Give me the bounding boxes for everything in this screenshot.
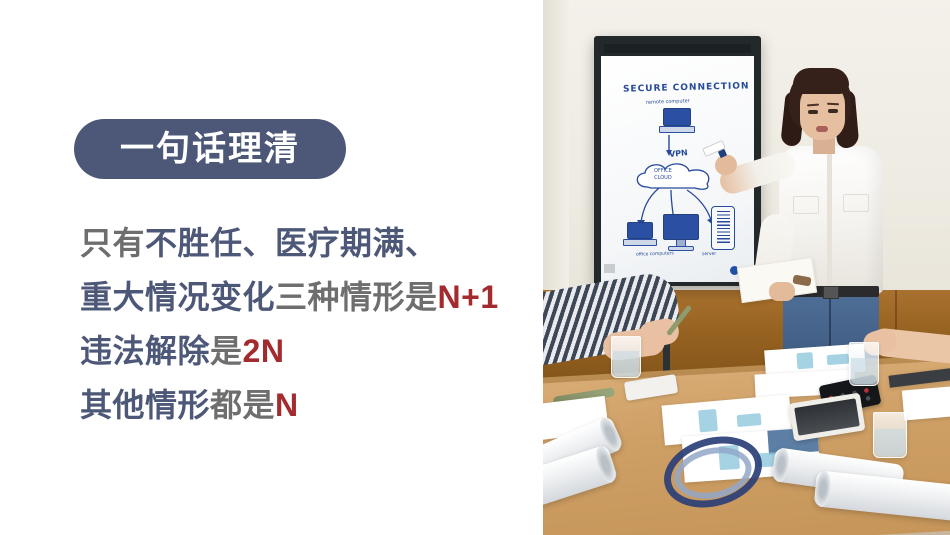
headline-badge: 一句话理清 <box>74 119 346 179</box>
whiteboard-cloud-label: OFFICE CLOUD <box>654 168 672 182</box>
water-glass-left <box>611 336 641 378</box>
table-document-6 <box>902 385 950 420</box>
whiteboard-label-server: server <box>702 252 716 257</box>
body-line-4-segment-3: N <box>275 387 299 423</box>
whiteboard-desktop-monitor-icon <box>663 214 699 251</box>
body-line-2-segment-1: 重大情况变化 <box>80 279 275 315</box>
presenter-lower-hand <box>769 282 795 301</box>
presenter-eye-right <box>828 109 838 113</box>
whiteboard-label-vpn: VPN <box>669 148 689 159</box>
body-line-1: 只有不胜任、医疗期满、 <box>80 216 540 270</box>
body-line-4-segment-2: 都是 <box>210 387 275 423</box>
water-glass-right <box>849 342 879 386</box>
presenter-bangs <box>793 68 849 94</box>
presenter-blouse-pocket-left <box>793 196 819 214</box>
flipchart-clamp <box>604 44 751 53</box>
body-line-3-segment-2: 是 <box>210 333 243 369</box>
body-line-4-segment-1: 其他情形 <box>80 387 210 423</box>
body-text-block: 只有不胜任、医疗期满、 重大情况变化三种情形是N+1 违法解除是2N 其他情形都… <box>80 216 540 432</box>
whiteboard-label-office-computers: office computers <box>636 251 674 257</box>
text-pane: 一句话理清 只有不胜任、医疗期满、 重大情况变化三种情形是N+1 违法解除是2N… <box>0 0 545 535</box>
body-line-3-segment-1: 违法解除 <box>80 333 210 369</box>
whiteboard-title: SECURE CONNECTION <box>623 81 750 94</box>
whiteboard-label-remote-computer: remote computer <box>646 98 690 106</box>
whiteboard-remote-laptop-icon <box>663 108 695 133</box>
body-line-1-segment-1: 只有 <box>80 225 145 261</box>
body-line-1-segment-2: 不胜任、医疗期满、 <box>145 225 438 261</box>
presenter-blouse-placket <box>827 150 832 292</box>
headline-badge-label: 一句话理清 <box>120 132 300 166</box>
flipchart-corner-tag <box>604 264 615 273</box>
body-line-2-segment-2: 三种情形是 <box>275 279 438 315</box>
whiteboard-cloud-label-line1: OFFICE <box>654 168 672 175</box>
body-line-2-segment-3: N+1 <box>438 279 499 315</box>
body-line-3-segment-3: 2N <box>243 333 285 369</box>
tablet-screen <box>794 398 860 435</box>
wall-seam <box>543 0 569 310</box>
meeting-photo: SECURE CONNECTION remote computer VPN <box>543 0 950 535</box>
water-glass-front <box>873 412 907 458</box>
whiteboard-cloud-label-line2: CLOUD <box>654 175 672 182</box>
body-line-2: 重大情况变化三种情形是N+1 <box>80 270 540 324</box>
presenter-eye-left <box>808 110 818 114</box>
presenter-blouse-pocket-right <box>843 194 869 212</box>
whiteboard-server-icon <box>711 206 735 250</box>
whiteboard-office-laptop-icon <box>627 222 657 246</box>
presenter-mouth <box>816 126 828 132</box>
body-line-4: 其他情形都是N <box>80 378 540 432</box>
body-line-3: 违法解除是2N <box>80 324 540 378</box>
slide-root: 一句话理清 只有不胜任、医疗期满、 重大情况变化三种情形是N+1 违法解除是2N… <box>0 0 950 535</box>
presenter-belt-buckle <box>823 286 839 299</box>
